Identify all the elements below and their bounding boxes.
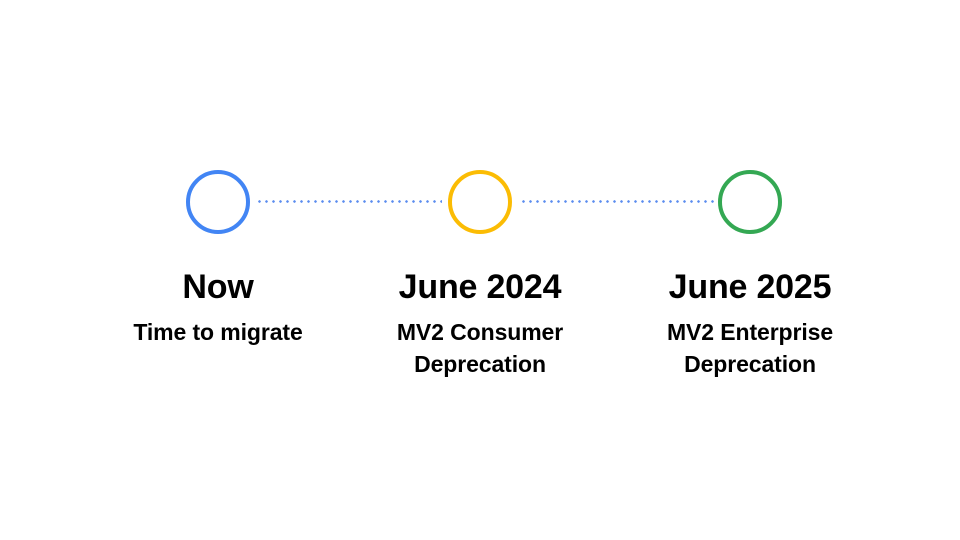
milestone-heading-june-2025: June 2025 bbox=[610, 268, 890, 306]
circle-outline-icon bbox=[448, 170, 512, 234]
milestone-subtitle-line-2: Deprecation bbox=[340, 348, 620, 380]
milestone-labels-june-2024: June 2024 MV2 Consumer Deprecation bbox=[340, 268, 620, 380]
marker-row-june-2025 bbox=[610, 168, 890, 236]
milestone-labels-june-2025: June 2025 MV2 Enterprise Deprecation bbox=[610, 268, 890, 380]
milestone-subtitle-june-2024: MV2 Consumer Deprecation bbox=[340, 316, 620, 380]
milestone-subtitle-line-1: MV2 Enterprise bbox=[610, 316, 890, 348]
milestone-subtitle-june-2025: MV2 Enterprise Deprecation bbox=[610, 316, 890, 380]
migration-timeline-diagram: Now Time to migrate June 2024 MV2 Consum… bbox=[0, 0, 960, 540]
timeline-milestone-now: Now Time to migrate bbox=[78, 168, 358, 348]
milestone-heading-now: Now bbox=[78, 268, 358, 306]
circle-outline-icon bbox=[718, 170, 782, 234]
marker-row-now bbox=[78, 168, 358, 236]
timeline-milestone-june-2024: June 2024 MV2 Consumer Deprecation bbox=[340, 168, 620, 380]
milestone-labels-now: Now Time to migrate bbox=[78, 268, 358, 348]
milestone-subtitle-now: Time to migrate bbox=[78, 316, 358, 348]
circle-outline-icon bbox=[186, 170, 250, 234]
marker-row-june-2024 bbox=[340, 168, 620, 236]
timeline-milestone-june-2025: June 2025 MV2 Enterprise Deprecation bbox=[610, 168, 890, 380]
milestone-subtitle-line-2: Deprecation bbox=[610, 348, 890, 380]
milestone-subtitle-line-1: MV2 Consumer bbox=[340, 316, 620, 348]
milestone-heading-june-2024: June 2024 bbox=[340, 268, 620, 306]
